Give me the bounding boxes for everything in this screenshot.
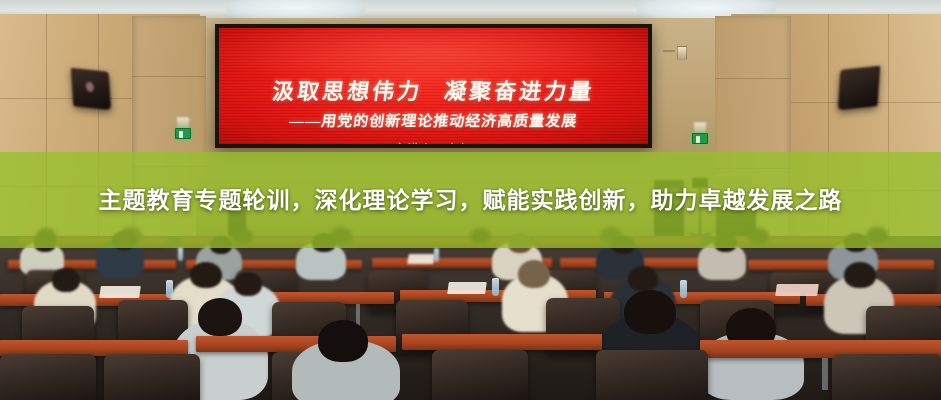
attendee-head [52,268,80,292]
caption-title: 主题教育专题轮训，深化理论学习，赋能实践创新，助力卓越发展之路 [40,183,901,217]
water-bottle [680,280,687,298]
attendee-head [318,320,368,362]
audience-area [0,236,941,400]
attendee-head [844,262,876,288]
chair [832,354,941,400]
screen-headline-right: 凝聚奋进力量 [443,79,596,104]
document-paper [407,254,434,264]
screen-presenter-line: 主讲人：李亿 [219,140,648,144]
water-bottle [434,248,439,262]
wall-fixture-right [677,46,687,60]
screen-text-block: 汲取思想伟力凝聚奋进力量 ——用党的创新理论推动经济高质量发展 [219,74,648,131]
exit-sign-right [692,133,708,144]
attendee-head [198,298,242,336]
wall-seam [715,78,791,79]
water-bottle [178,247,183,261]
screen-headline: 汲取思想伟力凝聚奋进力量 [219,74,648,106]
attendee-head [234,272,262,296]
document-paper [447,282,487,294]
chair [432,350,528,400]
ceiling-light [226,0,366,20]
screen-subheadline: ——用党的创新理论推动经济高质量发展 [219,110,648,131]
attendee-head [518,260,550,288]
wall-fixture-arm [663,50,675,52]
name-card [775,284,819,296]
wall-seam [0,98,132,99]
led-screen: 汲取思想伟力凝聚奋进力量 ——用党的创新理论推动经济高质量发展 主讲人：李亿 [219,28,648,144]
attendee-head [628,266,658,291]
chair [0,354,96,400]
attendee-head [190,262,222,288]
screen-headline-left: 汲取思想伟力 [271,79,424,104]
desk-leg [822,358,828,390]
wall-speaker-left [71,68,112,110]
caption-band: 主题教育专题轮训，深化理论学习，赋能实践创新，助力卓越发展之路 [0,152,941,248]
desk [402,334,602,350]
attendee-head [624,290,676,334]
wall-speaker-right [838,66,881,111]
document-paper [99,286,141,298]
led-screen-frame: 汲取思想伟力凝聚奋进力量 ——用党的创新理论推动经济高质量发展 主讲人：李亿 [215,24,652,148]
lecture-hall-banner: 汲取思想伟力凝聚奋进力量 ——用党的创新理论推动经济高质量发展 主讲人：李亿 [0,0,941,400]
water-bottle [492,278,499,296]
chair [596,350,708,400]
exit-sign-left [175,128,191,139]
chair [104,354,200,400]
wall-seam [132,76,206,77]
